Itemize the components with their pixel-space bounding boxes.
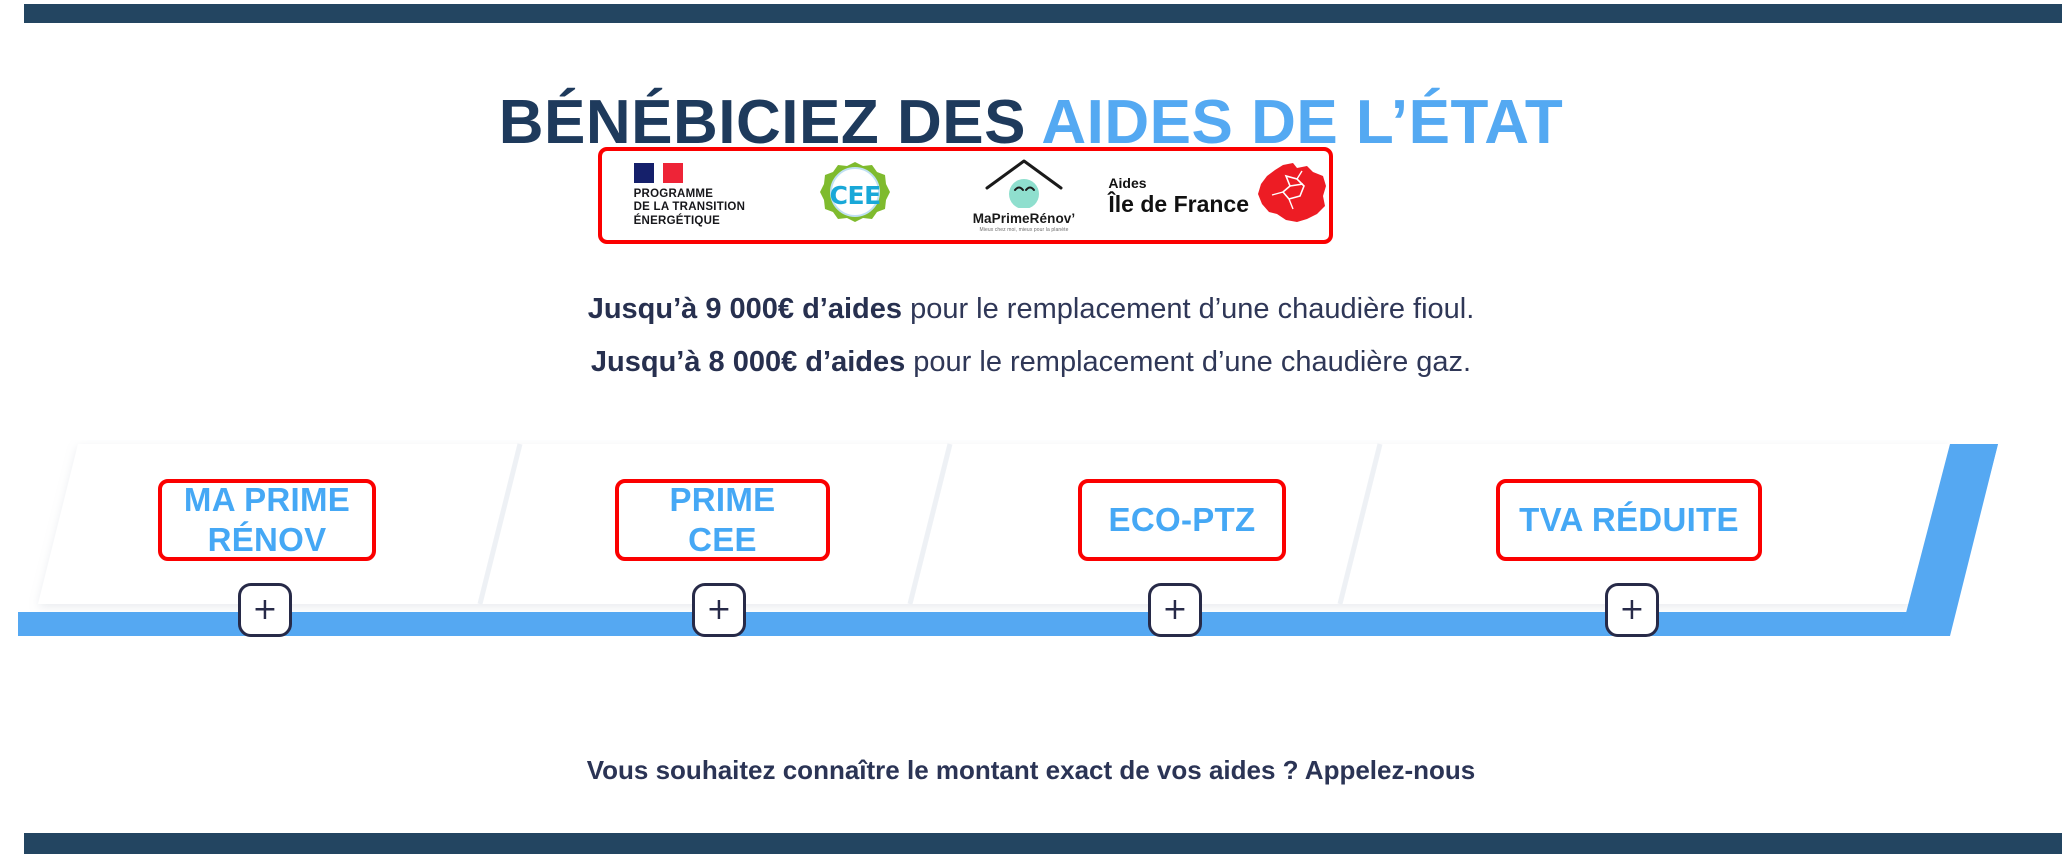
aide-line-gaz-rest: pour le remplacement d’une chaudière gaz…	[905, 346, 1471, 378]
french-flag-icon	[634, 163, 683, 183]
pte-line-2: DE LA TRANSITION	[634, 201, 746, 215]
badge-tva-reduite[interactable]: TVA RÉDUITE	[1496, 479, 1762, 561]
expand-prime-cee-button[interactable]: +	[692, 583, 746, 637]
plus-icon: +	[1619, 595, 1644, 625]
banner-badges: MA PRIME RÉNOV + PRIME CEE + ECO-PTZ + T…	[0, 440, 2062, 665]
bottom-rule	[24, 833, 2062, 854]
aide-line-fioul: Jusqu’à 9 000€ d’aides pour le remplacem…	[0, 283, 2062, 336]
badge-eco-ptz-label: ECO-PTZ	[1109, 500, 1256, 540]
badge-ma-prime-renov-label: MA PRIME RÉNOV	[184, 480, 350, 560]
contact-callout: Vous souhaitez connaître le montant exac…	[0, 755, 2062, 786]
expand-eco-ptz-button[interactable]: +	[1148, 583, 1202, 637]
ile-de-france-map-icon	[1253, 162, 1329, 229]
maprimerenov-name: MaPrimeRénov’	[973, 211, 1076, 226]
pte-line-1: PROGRAMME	[634, 188, 746, 202]
badge-eco-ptz[interactable]: ECO-PTZ	[1078, 479, 1286, 561]
logo-aides-ile-de-france: Aides Île de France	[1108, 151, 1329, 240]
aides-timeline-banner: MA PRIME RÉNOV + PRIME CEE + ECO-PTZ + T…	[0, 440, 2062, 665]
plus-icon: +	[252, 595, 277, 625]
partner-logo-strip: PROGRAMME DE LA TRANSITION ÉNERGÉTIQUE C…	[598, 147, 1333, 244]
logo-cee: CEE	[771, 151, 940, 240]
aide-line-fioul-strong: Jusqu’à 9 000€ d’aides	[588, 293, 902, 325]
aides-amount-lines: Jusqu’à 9 000€ d’aides pour le remplacem…	[0, 283, 2062, 389]
badge-prime-cee[interactable]: PRIME CEE	[615, 479, 830, 561]
plus-icon: +	[1162, 595, 1187, 625]
expand-ma-prime-renov-button[interactable]: +	[238, 583, 292, 637]
idf-line-2: Île de France	[1108, 191, 1249, 217]
expand-tva-reduite-button[interactable]: +	[1605, 583, 1659, 637]
badge-ma-prime-renov[interactable]: MA PRIME RÉNOV	[158, 479, 376, 561]
maprimerenov-house-icon	[981, 158, 1067, 208]
cee-label: CEE	[830, 181, 881, 210]
top-rule	[24, 4, 2062, 23]
maprimerenov-tagline: Mieux chez moi, mieux pour la planète	[979, 227, 1068, 233]
aide-line-gaz: Jusqu’à 8 000€ d’aides pour le remplacem…	[0, 336, 2062, 389]
badge-prime-cee-label: PRIME CEE	[669, 480, 775, 560]
logo-maprimerenov: MaPrimeRénov’ Mieux chez moi, mieux pour…	[940, 151, 1109, 240]
logo-programme-transition-energetique: PROGRAMME DE LA TRANSITION ÉNERGÉTIQUE	[602, 151, 771, 240]
pte-line-3: ÉNERGÉTIQUE	[634, 215, 746, 229]
badge-tva-reduite-label: TVA RÉDUITE	[1519, 500, 1739, 540]
idf-line-1: Aides	[1108, 175, 1249, 191]
cee-badge-icon: CEE	[819, 160, 891, 232]
aide-line-fioul-rest: pour le remplacement d’une chaudière fio…	[902, 293, 1474, 325]
plus-icon: +	[706, 595, 731, 625]
aide-line-gaz-strong: Jusqu’à 8 000€ d’aides	[591, 346, 905, 378]
